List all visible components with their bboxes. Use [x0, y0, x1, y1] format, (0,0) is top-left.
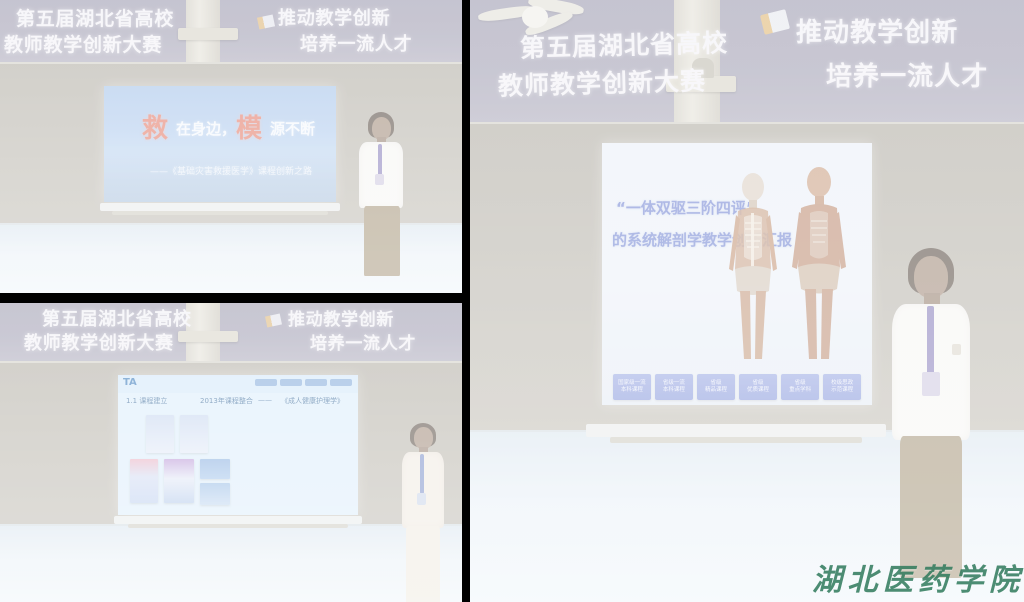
slide-item-4: 《成人健康护理学》 [281, 396, 344, 406]
slide-tabs[interactable] [255, 379, 352, 386]
screen-bottom-bar-2 [114, 516, 362, 524]
screen-bottom-bar [100, 203, 340, 211]
banner3-left-line2: 教师教学创新大赛 [498, 61, 707, 102]
chip-item[interactable]: 省级 优质课程 [739, 374, 777, 400]
banner3-right-line1: 推动教学创新 [796, 12, 958, 49]
slide-item-3: —— [258, 396, 272, 404]
banner-left-line2b: 教师教学创新大赛 [4, 30, 162, 57]
banner-right-line2: 培养一流人才 [300, 30, 412, 56]
competition-banner-2: 第五届湖北省高校 教师教学创新大赛 推动教学创新 培养一流人才 [0, 303, 462, 363]
competition-banner: 第五届湖北省高校 教师教学创新大赛 推动教学创新 培养一流人才 [0, 0, 462, 64]
chip-item[interactable]: 省级 精品课程 [697, 374, 735, 400]
presenter-figure [352, 112, 410, 282]
banner2-left-line2: 教师教学创新大赛 [24, 329, 174, 355]
anatomy-figure-skeleton [724, 173, 782, 363]
chip-item[interactable]: 国家级一流 本科课程 [613, 374, 651, 400]
slide-thumbnail [200, 459, 230, 479]
slide-title-part4: 源不断 [270, 118, 315, 139]
chip-item[interactable]: 省级一流 本科课程 [655, 374, 693, 400]
anatomy-chip-row: 国家级一流 本科课程 省级一流 本科课程 省级 精品课程 省级 [613, 374, 861, 400]
decor-icon-3 [760, 9, 790, 35]
slide-rescue-medicine: 救 在身边， 模 源不断 ——《基础灾害救援医学》课程创新之路 [104, 86, 336, 202]
panel-top-left[interactable]: 第五届湖北省高校 教师教学创新大赛 推动教学创新 培养一流人才 救 在身边， 模… [0, 0, 462, 293]
chip-item[interactable]: 校级思政 示范课程 [823, 374, 861, 400]
presenter-figure-3 [882, 248, 978, 578]
slide-logo: TA [123, 377, 137, 388]
screen-stand-3 [610, 437, 862, 443]
projection-screen-2[interactable]: TA 1.1 课程建立 2013年课程整合 —— 《成人健康护理学》 [118, 375, 358, 515]
projector-mount-2 [178, 331, 238, 342]
banner2-left-line1: 第五届湖北省高校 [42, 305, 192, 331]
screen-stand-2 [128, 524, 348, 528]
slide-thumbnail [130, 459, 158, 503]
slide-title-part2: 在身边， [176, 118, 236, 139]
chip-item[interactable]: 省级 重点学科 [781, 374, 819, 400]
projector-mount [178, 28, 238, 40]
chip-line2: 本科课程 [621, 387, 643, 393]
banner-left-line1: 第五届湖北省高校 [16, 4, 174, 31]
banner3-left-line1: 第五届湖北省高校 [520, 23, 729, 64]
decor-icon [257, 14, 275, 29]
panel-right[interactable]: 第五届湖北省高校 教师教学创新大赛 推动教学创新 培养一流人才 “一体双驱三阶四… [470, 0, 1024, 602]
chip-line2: 精品课程 [705, 387, 727, 393]
anatomy-figure-muscular [788, 167, 850, 363]
slide-title-char3: 模 [236, 108, 262, 145]
presenter-figure-2 [396, 423, 450, 602]
decor-icon-2 [265, 314, 282, 328]
slide-thumbnail [180, 415, 208, 453]
chip-line2: 示范课程 [831, 387, 853, 393]
slide-item-2: 2013年课程整合 [200, 396, 253, 406]
slide-tab[interactable] [280, 379, 302, 386]
slide-thumbnail [146, 415, 174, 453]
slide-tab[interactable] [255, 379, 277, 386]
projection-screen[interactable]: 救 在身边， 模 源不断 ——《基础灾害救援医学》课程创新之路 [104, 86, 336, 202]
slide-systematic-anatomy: “一体双驱三阶四评” 的系统解剖学教学创新汇报 [602, 143, 872, 405]
slide-title-char1: 救 [142, 108, 168, 145]
lapel-pin-icon [952, 344, 961, 355]
banner-right-line1: 推动教学创新 [278, 4, 390, 30]
institution-watermark: 湖北医药学院 [812, 555, 1024, 599]
projection-screen-3[interactable]: “一体双驱三阶四评” 的系统解剖学教学创新汇报 [602, 143, 872, 405]
slide-nursing-course: TA 1.1 课程建立 2013年课程整合 —— 《成人健康护理学》 [118, 375, 358, 515]
screen-stand [112, 211, 328, 215]
screen-bottom-bar-3 [586, 424, 886, 437]
collage-stage: 第五届湖北省高校 教师教学创新大赛 推动教学创新 培养一流人才 救 在身边， 模… [0, 0, 1024, 602]
slide-tab[interactable] [330, 379, 352, 386]
panel-bottom-left[interactable]: 第五届湖北省高校 教师教学创新大赛 推动教学创新 培养一流人才 TA [0, 303, 462, 602]
slide-subtitle: ——《基础灾害救援医学》课程创新之路 [150, 164, 312, 177]
banner2-right-line2: 培养一流人才 [310, 329, 416, 354]
chip-line2: 本科课程 [663, 387, 685, 393]
banner2-right-line1: 推动教学创新 [288, 305, 394, 330]
slide-thumbnail [200, 483, 230, 505]
chip-line2: 优质课程 [747, 387, 769, 393]
slide-item-1: 1.1 课程建立 [126, 396, 167, 406]
chip-line2: 重点学科 [789, 387, 811, 393]
slide-tab[interactable] [305, 379, 327, 386]
banner3-right-line2: 培养一流人才 [826, 56, 988, 93]
competition-banner-3: 第五届湖北省高校 教师教学创新大赛 推动教学创新 培养一流人才 [470, 0, 1024, 124]
slide-thumbnail [164, 459, 194, 503]
